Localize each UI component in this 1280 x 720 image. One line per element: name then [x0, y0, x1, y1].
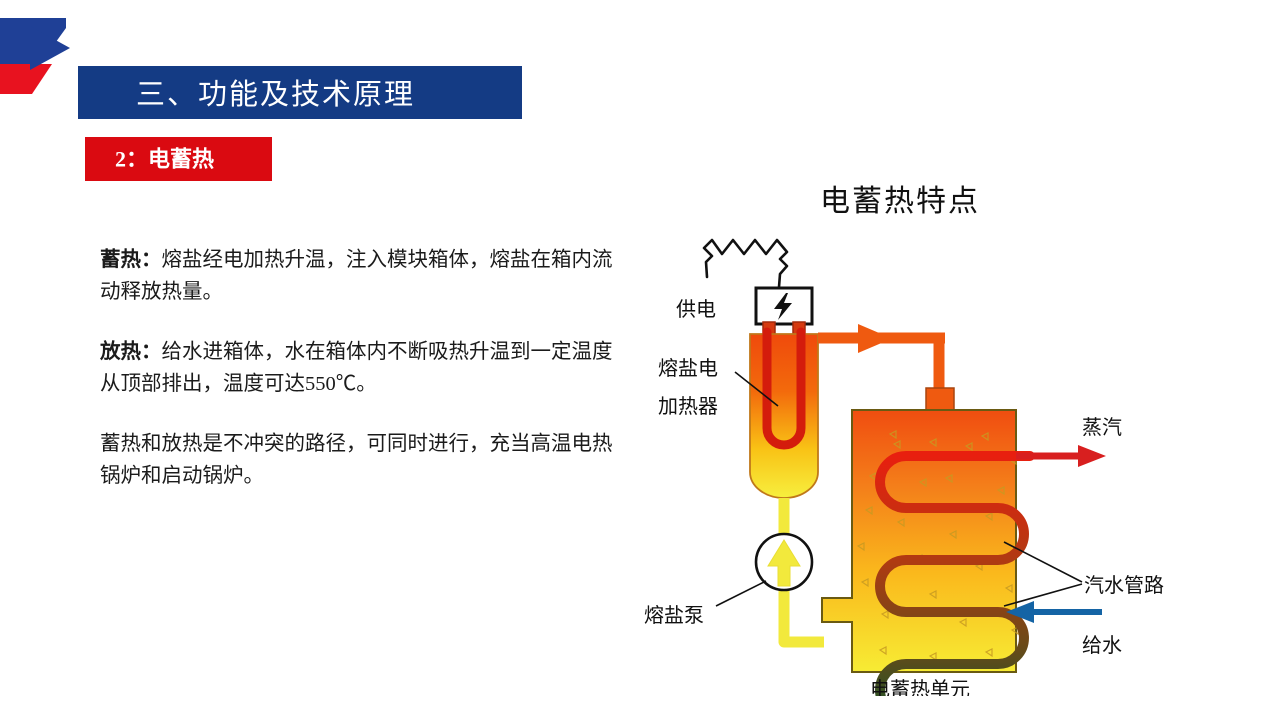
- label-steam: 蒸汽: [1082, 416, 1122, 439]
- label-power-supply: 供电: [676, 298, 716, 321]
- subsection-tag: 2：电蓄热: [85, 137, 272, 181]
- molten-salt-electric-heater: [750, 322, 818, 498]
- steam-outlet-arrow: [1016, 445, 1106, 467]
- slide-canvas: 三、功能及技术原理 2：电蓄热 蓄热：熔盐经电加热升温，注入模块箱体，熔盐在箱内…: [0, 0, 1280, 720]
- hot-salt-flow-arrow: [858, 324, 892, 353]
- subsection-tag-text: 2：电蓄热: [115, 142, 214, 174]
- section-title-bar: 三、功能及技术原理: [78, 66, 522, 119]
- logo-red-shape: [0, 64, 52, 94]
- power-supply-wire: [704, 240, 787, 287]
- paragraph-2-text: 给水进箱体，水在箱体内不断吸热升温到一定温度从顶部排出，温度可达550℃。: [100, 341, 613, 395]
- label-storage-unit: 电蓄热单元: [870, 678, 970, 696]
- label-water-steam-pipe: 汽水管路: [1084, 574, 1164, 597]
- hot-salt-pipe: [818, 324, 954, 410]
- thermal-storage-tank: [822, 410, 1030, 696]
- label-feedwater: 给水: [1082, 634, 1122, 657]
- paragraph-1-text: 熔盐经电加热升温，注入模块箱体，熔盐在箱内流动释放热量。: [100, 249, 613, 303]
- paragraph-1-lead: 蓄热：: [100, 249, 162, 271]
- electric-power-box: [756, 288, 812, 324]
- section-title-text: 三、功能及技术原理: [136, 71, 415, 113]
- corner-logo: [0, 18, 78, 94]
- pump-leader-line: [716, 581, 766, 606]
- paragraph-2: 放热：给水进箱体，水在箱体内不断吸热升温到一定温度从顶部排出，温度可达550℃。: [100, 336, 616, 400]
- label-heater-line2: 加热器: [658, 395, 718, 418]
- label-pump: 熔盐泵: [644, 604, 704, 627]
- paragraph-3: 蓄热和放热是不冲突的路径，可同时进行，充当高温电热锅炉和启动锅炉。: [100, 428, 616, 492]
- thermal-storage-diagram: 电蓄热特点: [630, 176, 1170, 696]
- paragraph-3-text: 蓄热和放热是不冲突的路径，可同时进行，充当高温电热锅炉和启动锅炉。: [100, 433, 613, 487]
- body-text-block: 蓄热：熔盐经电加热升温，注入模块箱体，熔盐在箱内流动释放热量。 放热：给水进箱体…: [100, 244, 616, 492]
- diagram-svg: 供电 熔盐电 加热器 熔盐泵 蒸汽 汽水管路 给水 电蓄热单元: [630, 210, 1170, 696]
- label-heater-line1: 熔盐电: [658, 357, 718, 380]
- paragraph-2-lead: 放热：: [100, 341, 162, 363]
- paragraph-1: 蓄热：熔盐经电加热升温，注入模块箱体，熔盐在箱内流动释放热量。: [100, 244, 616, 308]
